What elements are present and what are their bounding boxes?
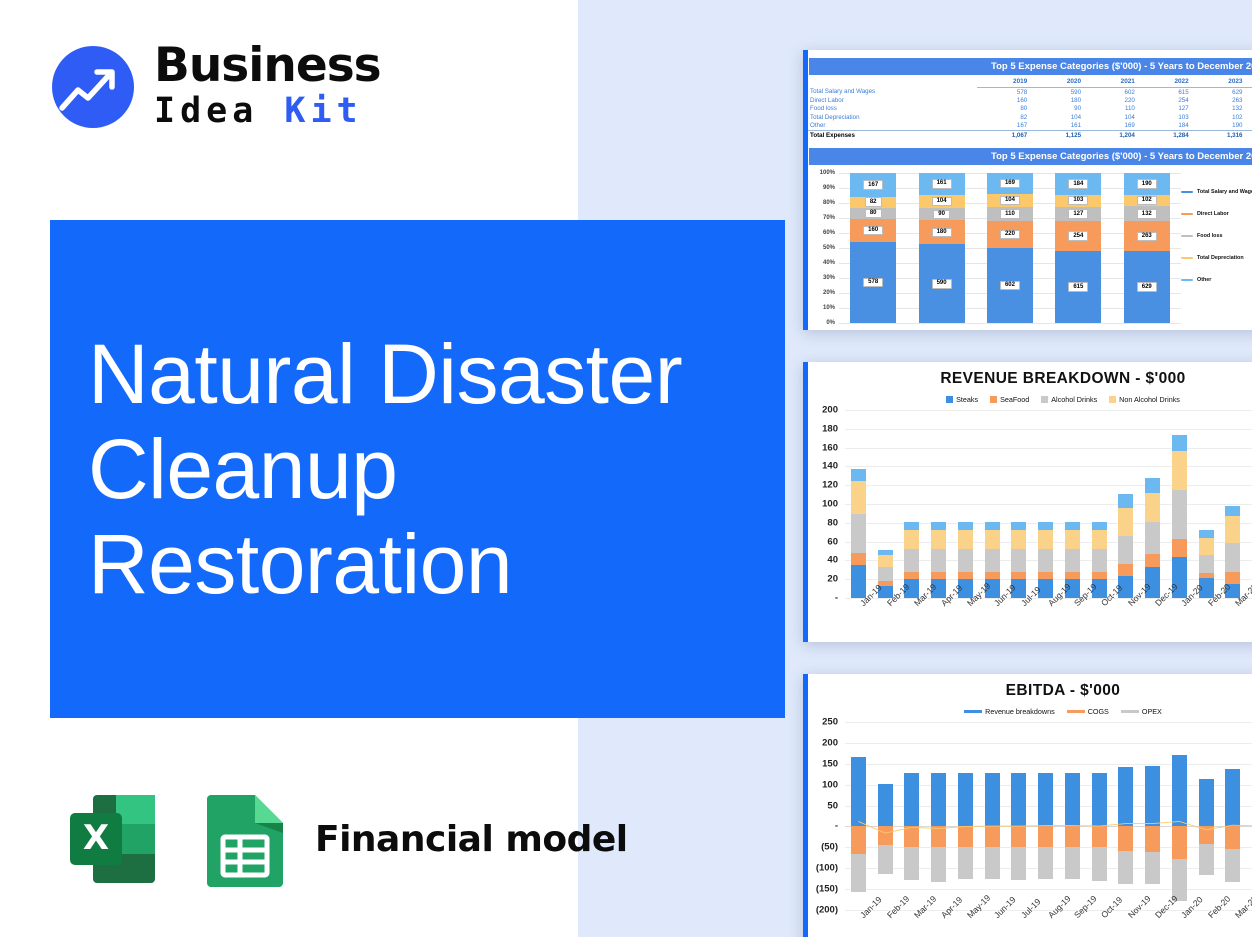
bar-segment — [1145, 493, 1160, 522]
table-cell: 90 — [1031, 105, 1085, 113]
table-cell: 184 — [1139, 122, 1193, 131]
format-badges: X Financial model — [68, 785, 628, 893]
x-tick: Feb-19 — [872, 910, 899, 937]
bar-value-label: 190 — [1137, 179, 1157, 189]
x-tick: May-19 — [952, 910, 979, 937]
bar-column — [979, 410, 1006, 598]
bar-value-label: 90 — [933, 210, 950, 220]
revenue-preview-card: REVENUE BREAKDOWN - $'000 SteaksSeaFoodA… — [803, 362, 1252, 642]
table-cell: 602 — [1085, 88, 1139, 97]
table-col-header: 2022 — [1139, 75, 1193, 88]
table-cell: 1,067 — [977, 130, 1031, 140]
table-col-header-cut: 2 — [1246, 75, 1252, 88]
x-tick: Mar-20 — [1220, 598, 1247, 642]
legend-item: Total Depreciation — [1181, 255, 1252, 261]
bar-column — [845, 410, 872, 598]
table-col-header: 2023 — [1193, 75, 1247, 88]
table-cell: 220 — [1085, 96, 1139, 104]
bar-segment — [1092, 522, 1107, 530]
bar-column — [1139, 410, 1166, 598]
table-cell: 629 — [1193, 88, 1247, 97]
bar-value-label: 103 — [1068, 196, 1088, 206]
bar-segment — [1118, 564, 1133, 575]
bar-segment: 169 — [987, 173, 1033, 194]
bar-segment — [1118, 494, 1133, 508]
bar-segment — [1145, 554, 1160, 567]
bar-value-label: 629 — [1137, 282, 1157, 292]
y-tick-label: 60 — [827, 536, 838, 547]
brand-line-business: Business — [154, 42, 381, 89]
legend-swatch — [1181, 191, 1193, 194]
bar-segment: 80 — [850, 208, 896, 219]
bar-segment: 578 — [850, 242, 896, 323]
y-tick-label: - — [835, 593, 838, 604]
stacked-bar — [1118, 458, 1133, 598]
table-cell: 578 — [977, 88, 1031, 97]
bar-segment: 90 — [919, 208, 965, 220]
card-accent-bar — [803, 50, 808, 330]
legend-label: Revenue breakdowns — [985, 707, 1055, 716]
bar-column — [1193, 410, 1220, 598]
hero-title-block: Natural Disaster Cleanup Restoration — [50, 220, 785, 718]
bar-segment — [1011, 522, 1026, 530]
bar-segment — [1199, 530, 1214, 538]
bar-segment: 103 — [1055, 195, 1101, 207]
stacked-bar — [1225, 466, 1240, 598]
y-tick-label: 100% — [820, 170, 835, 176]
bar-value-label: 615 — [1068, 282, 1088, 292]
bar-value-label: 254 — [1068, 231, 1088, 241]
table-header-row: 201920202021202220232 — [803, 75, 1252, 88]
table-cell: 180 — [1031, 96, 1085, 104]
stacked-bar: 184103127254615 — [1055, 173, 1101, 323]
legend-swatch — [1181, 235, 1193, 238]
bar-segment — [1145, 522, 1160, 554]
y-tick-label: 200 — [822, 737, 838, 748]
bar-value-label: 169 — [1000, 179, 1020, 189]
bar-column — [1086, 410, 1113, 598]
stacked-bar — [931, 479, 946, 598]
bar-value-label: 160 — [863, 226, 883, 236]
poster-root: Business Idea Kit Natural Disaster Clean… — [0, 0, 1252, 937]
stacked-bar: 16110490180590 — [919, 173, 965, 323]
stacked-bar: 190102132263629 — [1124, 173, 1170, 323]
bar-segment — [1172, 539, 1187, 557]
bar-segment — [904, 572, 919, 579]
stacked-bar — [851, 442, 866, 598]
microsoft-excel-icon: X — [68, 785, 173, 893]
expenses-chart-title: Top 5 Expense Categories ($'000) - 5 Yea… — [809, 148, 1252, 165]
bar-segment — [985, 572, 1000, 579]
ebitda-chart-legend: Revenue breakdownsCOGSOPEX — [853, 707, 1252, 716]
bar-segment — [1092, 549, 1107, 572]
y-tick-label: 50 — [827, 800, 838, 811]
table-cell: 590 — [1031, 88, 1085, 97]
bar-segment: 104 — [919, 195, 965, 209]
bar-segment — [1225, 543, 1240, 572]
bar-value-label: 104 — [1000, 196, 1020, 206]
ebitda-chart: EBITDA - $'000 Revenue breakdownsCOGSOPE… — [803, 674, 1252, 937]
bar-value-label: 263 — [1137, 232, 1157, 242]
table-cell: 1,204 — [1085, 130, 1139, 140]
table-cell: 160 — [977, 96, 1031, 104]
bar-column — [925, 410, 952, 598]
legend-item: SeaFood — [990, 395, 1029, 404]
legend-label: Food loss — [1197, 233, 1222, 239]
bar-value-label: 80 — [865, 209, 882, 219]
google-sheets-icon — [201, 785, 289, 893]
y-tick-label: 150 — [822, 758, 838, 769]
legend-item: Other — [1181, 277, 1252, 283]
bar-segment — [1092, 530, 1107, 549]
table-row: Total Salary and Wages578590602615629 — [803, 88, 1252, 97]
bar-segment: 254 — [1055, 221, 1101, 251]
bar-segment — [1038, 530, 1053, 549]
bar-column — [1246, 410, 1252, 598]
table-cell — [1246, 130, 1252, 140]
x-tick: Apr-20 — [1246, 910, 1252, 937]
y-tick-label: 20% — [823, 290, 835, 296]
bar-value-label: 184 — [1068, 179, 1088, 189]
bar-segment — [1065, 572, 1080, 579]
legend-label: SeaFood — [1000, 395, 1029, 404]
bar-segment — [1172, 435, 1187, 451]
legend-swatch — [1121, 710, 1139, 713]
y-tick-label: 180 — [822, 423, 838, 434]
y-tick-label: (200) — [816, 905, 838, 916]
y-tick-label: - — [835, 821, 838, 832]
bar-segment — [1011, 530, 1026, 549]
brand-wordmark: Business Idea Kit — [154, 42, 381, 131]
bar-segment — [931, 530, 946, 549]
bar-segment — [985, 530, 1000, 549]
bar-value-label: 132 — [1137, 209, 1157, 219]
bar-value-label: 590 — [932, 279, 952, 289]
chart-y-axis: 100%90%80%70%60%50%40%30%20%10%0% — [809, 173, 837, 323]
ebitda-x-axis: Jan-19Feb-19Mar-19Apr-19May-19Jun-19Jul-… — [845, 910, 1252, 937]
table-cell: 132 — [1193, 105, 1247, 113]
x-tick: Nov-19 — [1113, 910, 1140, 937]
legend-label: COGS — [1088, 707, 1109, 716]
table-cell: 82 — [977, 113, 1031, 121]
bar-value-label: 578 — [863, 278, 883, 288]
legend-swatch — [946, 396, 953, 403]
brand-line-idea-kit: Idea Kit — [154, 91, 381, 131]
y-tick-label: 0% — [826, 320, 835, 326]
table-total-row: Total Expenses1,0671,1251,2041,2841,316 — [803, 130, 1252, 140]
bar-segment: 590 — [919, 244, 965, 323]
table-cell — [1246, 113, 1252, 121]
bar-segment: 160 — [850, 219, 896, 241]
bar-segment — [1011, 549, 1026, 572]
bar-segment — [1065, 522, 1080, 530]
x-tick: Jan-20 — [1166, 910, 1193, 937]
bar-segment: 184 — [1055, 173, 1101, 195]
bar-value-label: 82 — [865, 197, 882, 207]
bar-segment: 615 — [1055, 251, 1101, 323]
bar-value-label: 110 — [1000, 209, 1020, 219]
bar-segment — [1172, 490, 1187, 539]
y-tick-label: 60% — [823, 230, 835, 236]
x-tick: Jul-19 — [1006, 598, 1033, 642]
bar-segment — [904, 522, 919, 530]
bar-value-label: 161 — [932, 179, 952, 189]
expenses-table: 201920202021202220232 Total Salary and W… — [803, 75, 1252, 140]
bar-segment: 161 — [919, 173, 965, 194]
stacked-bar — [1011, 479, 1026, 598]
x-tick: Dec-19 — [1139, 910, 1166, 937]
y-tick-label: 120 — [822, 480, 838, 491]
bar-segment — [904, 549, 919, 572]
row-label: Direct Labor — [803, 96, 977, 104]
legend-label: Non Alcohol Drinks — [1119, 395, 1180, 404]
bar-segment — [1038, 572, 1053, 579]
format-label: Financial model — [315, 819, 628, 860]
y-tick-label: 20 — [827, 574, 838, 585]
stacked-bar — [1172, 423, 1187, 598]
table-cell: 1,284 — [1139, 130, 1193, 140]
bar-segment: 132 — [1124, 206, 1170, 221]
bar-value-label: 602 — [1000, 281, 1020, 291]
x-tick: Apr-20 — [1246, 598, 1252, 642]
bar-segment — [931, 549, 946, 572]
table-row: Other167161169184190 — [803, 122, 1252, 131]
bar-segment — [1225, 506, 1240, 517]
table-col-label — [803, 75, 977, 88]
bar-column — [952, 410, 979, 598]
revenue-chart-legend: SteaksSeaFoodAlcohol DrinksNon Alcohol D… — [853, 395, 1252, 404]
table-cell: 263 — [1193, 96, 1247, 104]
legend-swatch — [1067, 710, 1085, 713]
expenses-stacked-chart: 100%90%80%70%60%50%40%30%20%10%0% 167828… — [809, 167, 1252, 330]
bar-segment: 220 — [987, 221, 1033, 248]
legend-label: Total Depreciation — [1197, 255, 1244, 261]
bar-segment — [851, 565, 866, 598]
bar-segment — [1065, 549, 1080, 572]
legend-swatch — [990, 396, 997, 403]
bar-segment — [958, 522, 973, 530]
row-label: Total Salary and Wages — [803, 88, 977, 97]
revenue-chart-title: REVENUE BREAKDOWN - $'000 — [853, 370, 1252, 388]
ebitda-y-axis: 25020015010050-(50)(100)(150)(200) — [803, 722, 841, 910]
bar-segment — [1011, 572, 1026, 579]
legend-item: Direct Labor — [1181, 211, 1252, 217]
bar-segment — [904, 530, 919, 549]
y-tick-label: 90% — [823, 185, 835, 191]
expenses-preview-card: Top 5 Expense Categories ($'000) - 5 Yea… — [803, 50, 1252, 330]
x-tick: Jun-19 — [979, 910, 1006, 937]
legend-item: Food loss — [1181, 233, 1252, 239]
legend-item: Alcohol Drinks — [1041, 395, 1097, 404]
bar-segment — [1199, 538, 1214, 555]
y-tick-label: 40% — [823, 260, 835, 266]
bar-segment — [1092, 572, 1107, 579]
bar-segment: 180 — [919, 220, 965, 244]
bar-segment — [958, 530, 973, 549]
table-cell: 161 — [1031, 122, 1085, 131]
bar-value-label: 180 — [932, 228, 952, 238]
bar-segment — [878, 567, 893, 582]
bar-segment: 127 — [1055, 207, 1101, 222]
row-label: Total Depreciation — [803, 113, 977, 121]
stacked-bar: 169104110220602 — [987, 173, 1033, 323]
bar-segment — [958, 549, 973, 572]
bar-segment: 82 — [850, 197, 896, 209]
x-tick: Jan-19 — [845, 598, 872, 642]
bar-segment — [985, 549, 1000, 572]
svg-text:X: X — [83, 818, 109, 858]
x-tick: Mar-19 — [899, 910, 926, 937]
bar-column — [899, 410, 926, 598]
ebitda-plot-area — [845, 722, 1252, 910]
bar-value-label: 104 — [932, 197, 952, 207]
x-tick: Apr-19 — [925, 910, 952, 937]
stacked-bar: 1678280160578 — [850, 173, 896, 323]
bar-segment — [1038, 522, 1053, 530]
bar-column — [1032, 410, 1059, 598]
x-tick: Sep-19 — [1059, 910, 1086, 937]
x-tick: Feb-20 — [1193, 910, 1220, 937]
x-tick: Aug-19 — [1032, 598, 1059, 642]
bar-value-label: 102 — [1137, 196, 1157, 206]
table-cell: 1,125 — [1031, 130, 1085, 140]
table-cell: 1,316 — [1193, 130, 1247, 140]
bar-segment: 104 — [987, 194, 1033, 207]
legend-label: Total Salary and Wages — [1197, 189, 1252, 195]
bar-column — [1113, 410, 1140, 598]
ebitda-preview-card: EBITDA - $'000 Revenue breakdownsCOGSOPE… — [803, 674, 1252, 937]
x-tick: Oct-19 — [1086, 598, 1113, 642]
y-tick-label: 250 — [822, 717, 838, 728]
page-title: Natural Disaster Cleanup Restoration — [50, 327, 785, 612]
legend-label: Other — [1197, 277, 1211, 283]
trending-up-chart-icon — [52, 46, 134, 128]
ebitda-chart-title: EBITDA - $'000 — [853, 682, 1252, 700]
bar-segment — [1225, 572, 1240, 583]
table-cell: 167 — [977, 122, 1031, 131]
revenue-chart: REVENUE BREAKDOWN - $'000 SteaksSeaFoodA… — [803, 362, 1252, 642]
legend-item: Steaks — [946, 395, 978, 404]
bar-segment — [931, 572, 946, 579]
legend-label: Direct Labor — [1197, 211, 1229, 217]
y-tick-label: (50) — [821, 842, 838, 853]
revenue-y-axis: 20018016014012010080604020- — [803, 410, 841, 598]
revenue-x-axis: Jan-19Feb-19Mar-19Apr-19May-19Jun-19Jul-… — [845, 598, 1252, 642]
stacked-bar — [878, 503, 893, 598]
y-tick-label: 50% — [823, 245, 835, 251]
chart-bars: 1678280160578161104901805901691041102206… — [839, 173, 1181, 323]
legend-swatch — [1181, 257, 1193, 260]
legend-swatch — [1109, 396, 1116, 403]
bar-segment — [1118, 508, 1133, 537]
bar-segment: 602 — [987, 248, 1033, 323]
bar-segment — [1118, 536, 1133, 564]
table-cell: 127 — [1139, 105, 1193, 113]
bar-segment — [931, 522, 946, 530]
gridline — [839, 323, 1181, 324]
stacked-bar — [1065, 479, 1080, 598]
legend-label: OPEX — [1142, 707, 1162, 716]
y-tick-label: 160 — [822, 442, 838, 453]
y-tick-label: 140 — [822, 461, 838, 472]
bar-segment — [1145, 478, 1160, 493]
x-tick: May-19 — [952, 598, 979, 642]
bar-value-label: 167 — [863, 180, 883, 190]
bar-column — [872, 410, 899, 598]
brand-logo: Business Idea Kit — [52, 42, 381, 131]
table-cell: 190 — [1193, 122, 1247, 131]
row-label: Other — [803, 122, 977, 131]
y-tick-label: 40 — [827, 555, 838, 566]
bar-segment — [851, 481, 866, 514]
expenses-table-title: Top 5 Expense Categories ($'000) - 5 Yea… — [809, 58, 1252, 75]
bar-segment — [1225, 516, 1240, 543]
x-tick: Jun-19 — [979, 598, 1006, 642]
table-cell: 80 — [977, 105, 1031, 113]
x-tick: Jan-19 — [845, 910, 872, 937]
bar-column — [1220, 410, 1247, 598]
legend-label: Steaks — [956, 395, 978, 404]
y-tick-label: 100 — [822, 779, 838, 790]
y-tick-label: 80% — [823, 200, 835, 206]
x-tick: Jul-19 — [1006, 910, 1033, 937]
table-cell: 110 — [1085, 105, 1139, 113]
bar-segment — [851, 553, 866, 565]
bar-segment — [851, 514, 866, 553]
legend-item: Non Alcohol Drinks — [1109, 395, 1180, 404]
bar-segment: 263 — [1124, 221, 1170, 251]
table-cell: 102 — [1193, 113, 1247, 121]
y-tick-label: (100) — [816, 863, 838, 874]
x-tick: Jan-20 — [1166, 598, 1193, 642]
table-col-header: 2021 — [1085, 75, 1139, 88]
legend-item: OPEX — [1121, 707, 1162, 716]
bar-column — [1006, 410, 1033, 598]
bar-segment: 102 — [1124, 195, 1170, 207]
y-tick-label: 30% — [823, 275, 835, 281]
bar-segment — [958, 572, 973, 579]
x-tick: Nov-19 — [1113, 598, 1140, 642]
bar-segment: 190 — [1124, 173, 1170, 195]
table-cell: 104 — [1085, 113, 1139, 121]
table-col-header: 2020 — [1031, 75, 1085, 88]
table-cell: 615 — [1139, 88, 1193, 97]
bar-segment — [1199, 555, 1214, 572]
bar-segment — [851, 469, 866, 481]
x-tick: Feb-20 — [1193, 598, 1220, 642]
table-cell: 104 — [1031, 113, 1085, 121]
x-tick: Aug-19 — [1032, 910, 1059, 937]
table-cell — [1246, 122, 1252, 131]
row-label: Food loss — [803, 105, 977, 113]
y-tick-label: (150) — [816, 884, 838, 895]
bar-segment — [878, 555, 893, 567]
stacked-bar — [1092, 479, 1107, 598]
legend-item: Total Salary and Wages — [1181, 189, 1252, 195]
table-cell: 103 — [1139, 113, 1193, 121]
brand-kit: Kit — [284, 91, 362, 131]
stacked-bar — [985, 479, 1000, 598]
y-tick-label: 100 — [822, 499, 838, 510]
x-tick: Mar-19 — [899, 598, 926, 642]
bar-value-label: 220 — [1000, 230, 1020, 240]
x-tick: Oct-19 — [1086, 910, 1113, 937]
table-cell: 169 — [1085, 122, 1139, 131]
bar-segment — [1038, 549, 1053, 572]
legend-swatch — [1181, 213, 1193, 216]
table-col-header: 2019 — [977, 75, 1031, 88]
chart-plot-area: 1678280160578161104901805901691041102206… — [839, 173, 1181, 323]
